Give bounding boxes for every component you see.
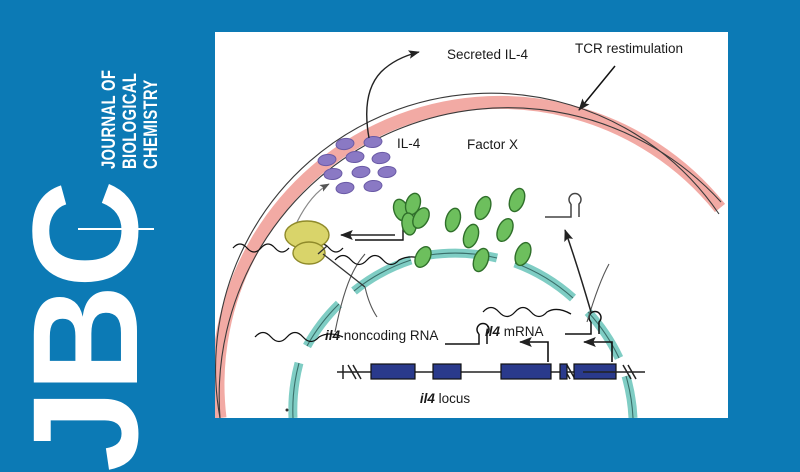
- il4-mrna-label: il4 mRNA: [485, 324, 544, 339]
- il4-mrna-strand-upper: [483, 308, 571, 317]
- factor-x-free-pool: [443, 186, 534, 273]
- il4-noncoding-rna-label: il4 noncoding RNA: [325, 328, 438, 343]
- ncrna-to-inhibition-line: [365, 287, 377, 317]
- cytoplasmic-hairpin-icon: [545, 194, 581, 217]
- ribosome: [285, 221, 329, 264]
- exon-box: [433, 364, 461, 379]
- factor-x-label: Factor X: [467, 137, 518, 152]
- secreted-il4-label: Secreted IL-4: [447, 47, 529, 62]
- exon-box: [560, 364, 567, 379]
- factor-x-bound-single: [412, 244, 435, 270]
- exon-box: [371, 364, 415, 379]
- screenshot-root: JOURNAL OF BIOLOGICAL CHEMISTRY JBC: [0, 0, 800, 454]
- artifact-dot: [286, 409, 289, 412]
- il4-locus-label: il4 locus: [420, 391, 471, 406]
- noncoding-rna-hairpin-icon: [445, 324, 489, 344]
- figure-panel: il4 locus il4 noncoding RNA il4 mRNA: [215, 32, 728, 418]
- tcr-restimulation-label: TCR restimulation: [575, 41, 683, 56]
- journal-title-line-2: BIOLOGICAL: [120, 73, 141, 169]
- jbc-branding-band: JOURNAL OF BIOLOGICAL CHEMISTRY JBC: [0, 0, 215, 454]
- journal-title-line-1: JOURNAL OF: [99, 70, 120, 169]
- tcr-restimulation-arrow: [579, 66, 615, 110]
- il4-label: IL-4: [397, 136, 421, 151]
- journal-title-block: JOURNAL OF BIOLOGICAL CHEMISTRY: [99, 0, 209, 169]
- journal-title-line-3: CHEMISTRY: [141, 79, 162, 169]
- cell-signaling-diagram: il4 locus il4 noncoding RNA il4 mRNA: [215, 32, 728, 418]
- factor-x-bound-cluster-anchor: [355, 228, 403, 240]
- jbc-acronym-logo: JBC: [10, 212, 170, 472]
- transcription-start-arrows: [520, 342, 612, 362]
- factor-x-bound-cluster: [391, 191, 433, 235]
- exon-box: [501, 364, 551, 379]
